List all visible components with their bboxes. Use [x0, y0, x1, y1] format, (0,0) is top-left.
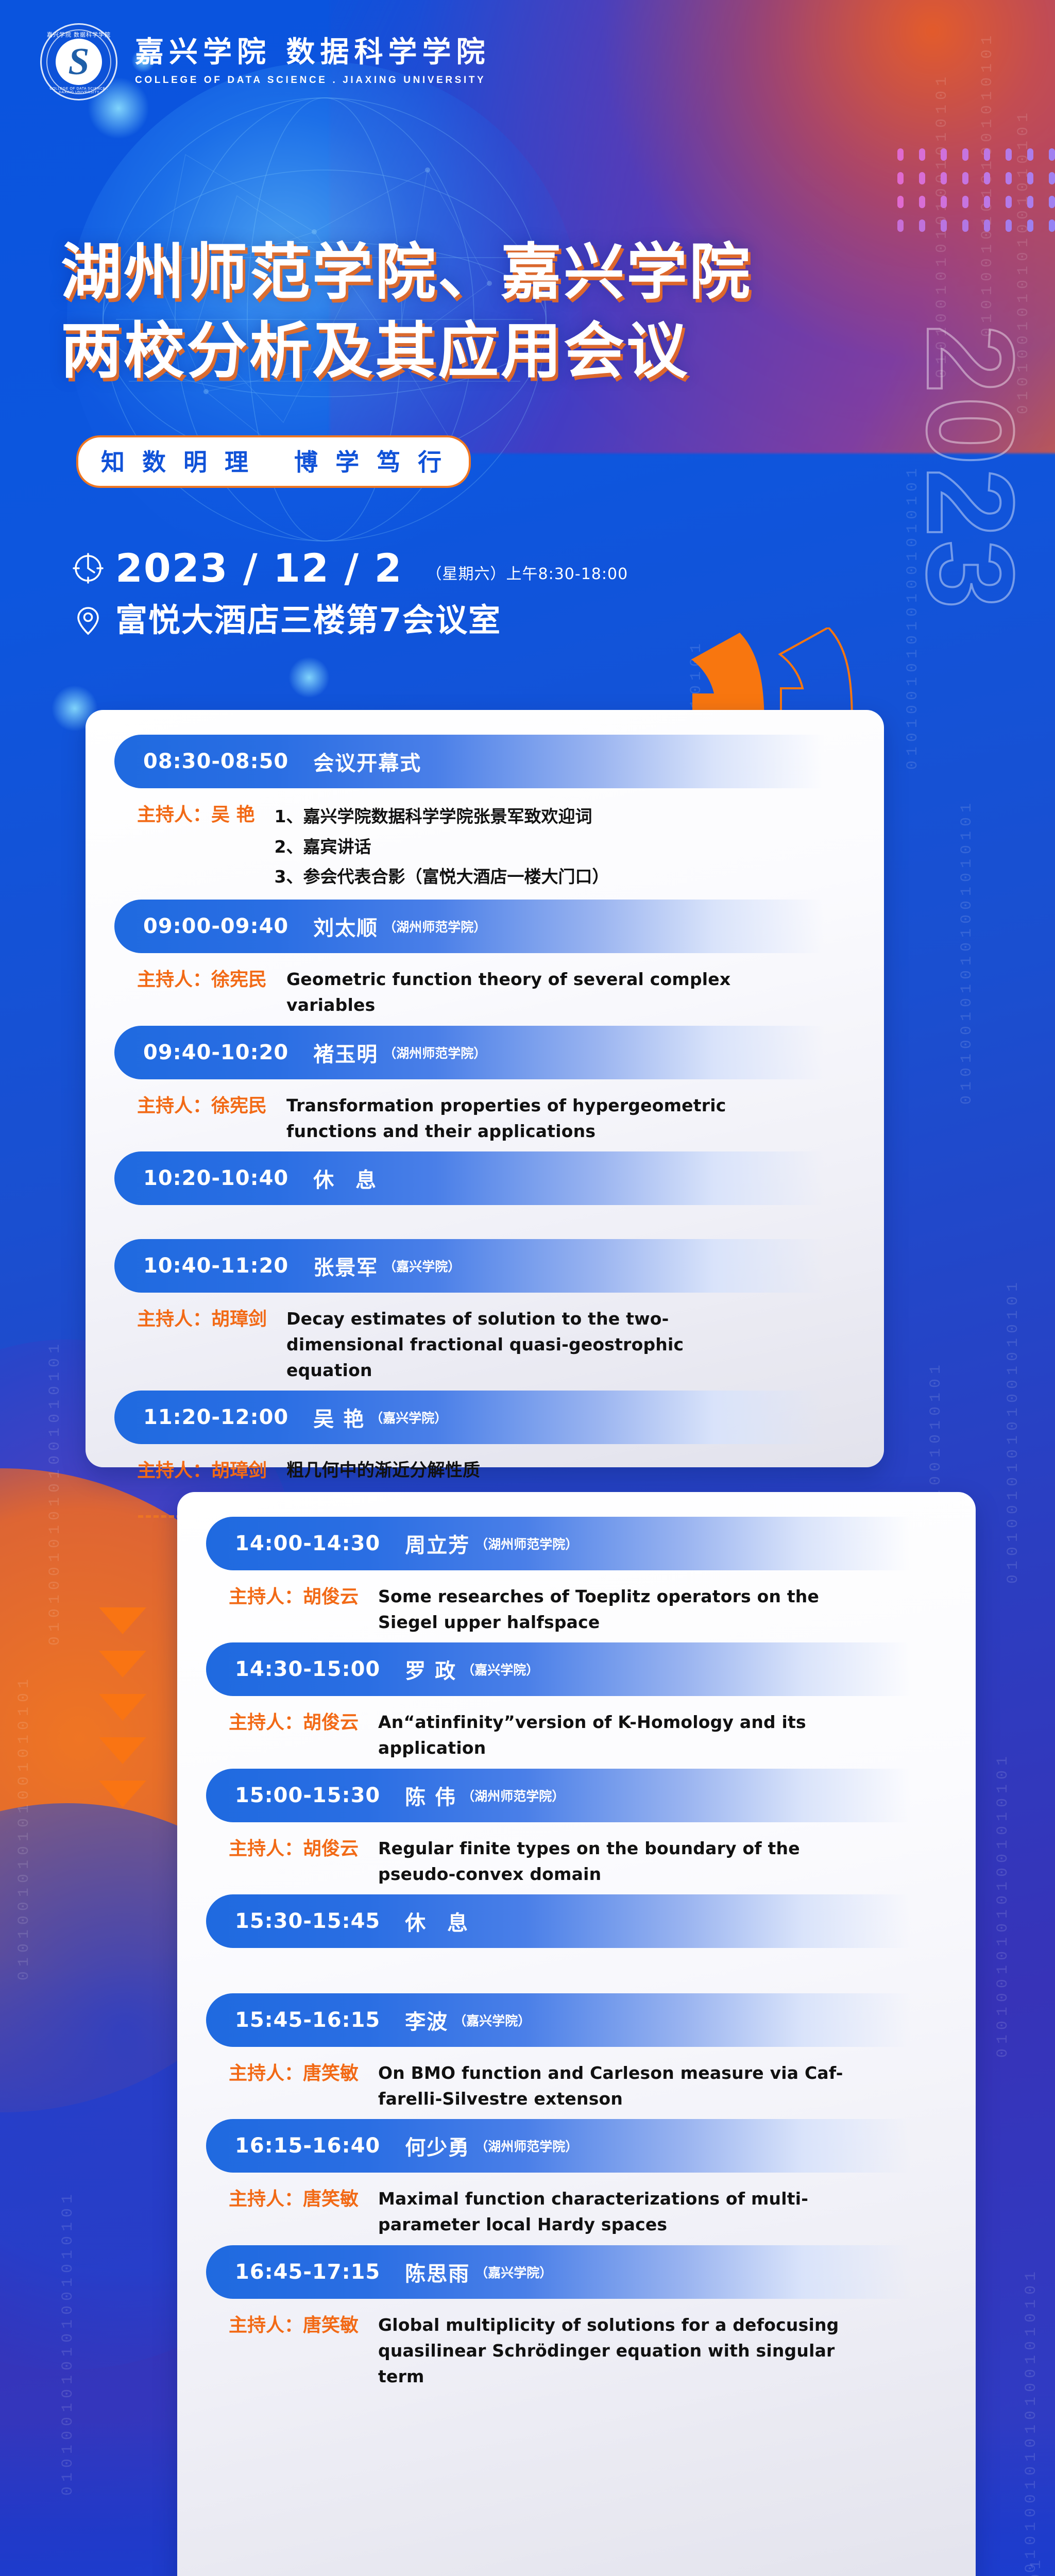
clock-icon	[72, 552, 104, 584]
session-time: 15:30-15:45	[235, 1909, 380, 1933]
session-affiliation: （嘉兴学院）	[383, 1257, 461, 1275]
session-topic: Regular finite types on the boundary of …	[378, 1836, 847, 1887]
session-affiliation: （嘉兴学院）	[453, 2011, 531, 2029]
session-speaker: 褚玉明	[313, 1038, 378, 1067]
session-speaker: 吴 艳	[313, 1402, 365, 1432]
chevron-down-icon	[99, 1737, 146, 1764]
session-header-bar: 09:00-09:40 刘太顺 （湖州师范学院）	[114, 900, 846, 953]
afternoon-session-list: 14:00-14:30 周立芳 （湖州师范学院） 主持人：胡俊云 Some re…	[177, 1492, 976, 2407]
session-row[interactable]: 08:30-08:50 会议开幕式 主持人：吴 艳 1、嘉兴学院数据科学学院张景…	[114, 735, 861, 895]
session-affiliation: （湖州师范学院）	[383, 1043, 486, 1062]
university-logo: 嘉兴学院 数据科学学院 COLLEGE OF DATA SCIENCE . JI…	[40, 23, 117, 100]
event-date-row: 2023 / 12 / 2 （星期六）上午8:30-18:00	[72, 549, 628, 588]
event-place-row: 富悦大酒店三楼第7会议室	[72, 604, 628, 636]
binary-decor: 0101001010101001010101	[15, 1674, 33, 1980]
chevron-down-icon	[99, 1651, 146, 1677]
session-affiliation: （嘉兴学院）	[370, 1408, 447, 1427]
session-header-bar: 15:30-15:45 休 息	[206, 1894, 932, 1948]
brand-block: 嘉兴学院 数据科学学院 COLLEGE OF DATA SCIENCE . JI…	[135, 38, 490, 86]
session-affiliation: （湖州师范学院）	[475, 2137, 578, 2155]
topic-list-item: 1、嘉兴学院数据科学学院张景军致欢迎词	[275, 802, 609, 832]
session-speaker: 刘太顺	[313, 911, 378, 941]
session-header-bar: 15:00-15:30 陈 伟 （湖州师范学院）	[206, 1769, 932, 1822]
logo-letter: S	[68, 43, 89, 81]
session-time: 10:20-10:40	[143, 1166, 288, 1190]
event-date: 2023 / 12 / 2	[115, 549, 403, 588]
session-row[interactable]: 09:40-10:20 褚玉明 （湖州师范学院） 主持人：徐宪民 Transfo…	[114, 1026, 861, 1147]
binary-decor: 0101001010101001010101	[46, 1340, 64, 1646]
session-affiliation: （嘉兴学院）	[475, 2263, 552, 2281]
scroll-arrows-decor	[99, 1607, 146, 1807]
session-title: 休 息	[405, 1906, 475, 1936]
glow-dot	[288, 657, 330, 698]
event-place: 富悦大酒店三楼第7会议室	[115, 604, 501, 636]
session-time: 16:45-17:15	[235, 2260, 380, 2284]
session-topic: Decay estimates of solution to the two-d…	[286, 1306, 755, 1383]
session-time: 14:00-14:30	[235, 1532, 380, 1555]
binary-decor: 0101001010101001010101	[26, 2571, 43, 2576]
session-body: 主持人：徐宪民 Transformation properties of hyp…	[114, 1079, 861, 1147]
session-topic: An“atinfinity”version of K-Homology and …	[378, 1709, 847, 1761]
session-affiliation: （嘉兴学院）	[462, 1660, 539, 1679]
session-body: 主持人：胡俊云 Regular finite types on the boun…	[206, 1822, 953, 1890]
session-time: 16:15-16:40	[235, 2134, 380, 2158]
title-line-1: 湖州师范学院、嘉兴学院	[61, 233, 782, 312]
session-time: 09:40-10:20	[143, 1041, 288, 1064]
session-body: 主持人：唐笑敏 Global multiplicity of solutions…	[206, 2299, 953, 2393]
topic-list-item: 2、嘉宾讲话	[275, 832, 609, 862]
session-topic: Maximal function characterizations of mu…	[378, 2186, 847, 2238]
session-host: 主持人：徐宪民	[137, 967, 267, 993]
session-header-bar: 09:40-10:20 褚玉明 （湖州师范学院）	[114, 1026, 846, 1079]
session-header-bar: 10:20-10:40 休 息	[114, 1151, 846, 1205]
poster-header: 嘉兴学院 数据科学学院 COLLEGE OF DATA SCIENCE . JI…	[0, 0, 1055, 124]
slogan-badge: 知 数 明 理 博 学 笃 行	[76, 435, 471, 488]
poster-title: 湖州师范学院、嘉兴学院 两校分析及其应用会议	[61, 233, 782, 391]
session-row[interactable]: 15:00-15:30 陈 伟 （湖州师范学院） 主持人：胡俊云 Regular…	[206, 1769, 953, 1890]
session-row[interactable]: 14:00-14:30 周立芳 （湖州师范学院） 主持人：胡俊云 Some re…	[206, 1517, 953, 1638]
logo-core: S	[56, 39, 102, 85]
dot-grid-decor	[897, 148, 1055, 232]
session-topic: Some researches of Toeplitz operators on…	[378, 1584, 847, 1635]
session-header-bar: 16:15-16:40 何少勇 （湖州师范学院）	[206, 2119, 932, 2173]
session-host: 主持人：胡俊云	[229, 1836, 359, 1862]
session-row[interactable]: 14:30-15:00 罗 政 （嘉兴学院） 主持人：胡俊云 An“atinfi…	[206, 1642, 953, 1764]
session-host: 主持人：吴 艳	[137, 802, 255, 828]
session-row-break[interactable]: 15:30-15:45 休 息	[206, 1894, 953, 1989]
session-body: 主持人：胡俊云 An“atinfinity”version of K-Homol…	[206, 1696, 953, 1764]
session-speaker: 罗 政	[405, 1654, 456, 1684]
morning-session-list: 08:30-08:50 会议开幕式 主持人：吴 艳 1、嘉兴学院数据科学学院张景…	[86, 710, 884, 1528]
session-speaker: 周立芳	[405, 1529, 470, 1558]
session-body: 主持人：胡璋剑 Decay estimates of solution to t…	[114, 1293, 861, 1386]
session-header-bar: 14:30-15:00 罗 政 （嘉兴学院）	[206, 1642, 932, 1696]
morning-schedule-card: 08:30-08:50 会议开幕式 主持人：吴 艳 1、嘉兴学院数据科学学院张景…	[86, 710, 884, 1467]
topic-list-item: 3、参会代表合影（富悦大酒店一楼大门口）	[275, 862, 609, 892]
session-row[interactable]: 16:15-16:40 何少勇 （湖州师范学院） 主持人：唐笑敏 Maximal…	[206, 2119, 953, 2241]
session-host: 主持人：胡俊云	[229, 1709, 359, 1736]
session-row[interactable]: 10:40-11:20 张景军 （嘉兴学院） 主持人：胡璋剑 Decay est…	[114, 1239, 861, 1386]
session-body: 主持人：唐笑敏 Maximal function characterizatio…	[206, 2173, 953, 2241]
session-topic: 粗几何中的渐近分解性质	[286, 1458, 480, 1484]
brand-name-cn: 嘉兴学院 数据科学学院	[135, 38, 490, 68]
session-speaker: 陈 伟	[405, 1781, 456, 1810]
session-affiliation: （湖州师范学院）	[383, 917, 486, 936]
session-body: 主持人：唐笑敏 On BMO function and Carleson mea…	[206, 2047, 953, 2115]
session-body: 主持人：胡俊云 Some researches of Toeplitz oper…	[206, 1570, 953, 1638]
session-row[interactable]: 09:00-09:40 刘太顺 （湖州师范学院） 主持人：徐宪民 Geometr…	[114, 900, 861, 1021]
event-date-suffix: （星期六）上午8:30-18:00	[427, 561, 628, 588]
slogan-text: 知 数 明 理 博 学 笃 行	[101, 448, 446, 476]
session-time: 10:40-11:20	[143, 1254, 288, 1278]
session-time: 11:20-12:00	[143, 1405, 288, 1429]
session-topic: Global multiplicity of solutions for a d…	[378, 2312, 847, 2389]
session-row-break[interactable]: 10:20-10:40 休 息	[114, 1151, 861, 1235]
session-speaker: 陈思雨	[405, 2257, 470, 2287]
session-row[interactable]: 11:20-12:00 吴 艳 （嘉兴学院） 主持人：胡璋剑 粗几何中的渐近分解…	[114, 1391, 861, 1492]
session-host: 主持人：唐笑敏	[229, 2186, 359, 2213]
session-row[interactable]: 15:45-16:15 李波 （嘉兴学院） 主持人：唐笑敏 On BMO fun…	[206, 1993, 953, 2115]
afternoon-schedule-card: 14:00-14:30 周立芳 （湖州师范学院） 主持人：胡俊云 Some re…	[177, 1492, 976, 2576]
session-time: 15:45-16:15	[235, 2008, 380, 2032]
binary-decor: 0101001010101001010101	[994, 1752, 1012, 2058]
session-time: 09:00-09:40	[143, 914, 288, 938]
session-header-bar: 10:40-11:20 张景军 （嘉兴学院）	[114, 1239, 846, 1293]
session-time: 14:30-15:00	[235, 1657, 380, 1681]
binary-decor: 0101001010101001010101	[958, 799, 976, 1105]
session-topic: On BMO function and Carleson measure via…	[378, 2060, 847, 2112]
binary-decor: 0101001010101001010101	[1023, 2267, 1040, 2573]
session-speaker: 何少勇	[405, 2131, 470, 2161]
session-body	[114, 1205, 861, 1235]
chevron-down-icon	[99, 1694, 146, 1721]
chevron-down-icon	[99, 1607, 146, 1634]
session-time: 08:30-08:50	[143, 750, 288, 773]
session-body: 主持人：徐宪民 Geometric function theory of sev…	[114, 953, 861, 1021]
chevron-down-icon	[99, 1781, 146, 1807]
session-host: 主持人：徐宪民	[137, 1093, 267, 1120]
session-host: 主持人：胡俊云	[229, 1584, 359, 1611]
session-header-bar: 14:00-14:30 周立芳 （湖州师范学院）	[206, 1517, 932, 1570]
location-pin-icon	[72, 604, 104, 636]
session-host: 主持人：唐笑敏	[229, 2312, 359, 2339]
logo-badge-bottom-text: COLLEGE OF DATA SCIENCE . JIAXING UNIVER…	[42, 87, 116, 94]
session-speaker: 李波	[405, 2005, 448, 2035]
event-meta: 2023 / 12 / 2 （星期六）上午8:30-18:00 富悦大酒店三楼第…	[72, 549, 628, 636]
session-affiliation: （湖州师范学院）	[475, 1534, 578, 1553]
logo-badge-top-text: 嘉兴学院 数据科学学院	[42, 30, 116, 39]
session-header-bar: 15:45-16:15 李波 （嘉兴学院）	[206, 1993, 932, 2047]
session-topic: Transformation properties of hypergeomet…	[286, 1093, 755, 1144]
session-host: 主持人：胡璋剑	[137, 1458, 267, 1484]
session-speaker: 张景军	[313, 1251, 378, 1281]
year-outline-decor: 2023	[899, 325, 1042, 612]
binary-decor: 0101001010101001010101	[1005, 1278, 1022, 1584]
binary-decor: 0101001010101001010101	[59, 2190, 77, 2496]
title-line-2: 两校分析及其应用会议	[61, 312, 782, 391]
session-topic: Geometric function theory of several com…	[286, 967, 755, 1018]
session-body	[206, 1948, 953, 1989]
session-time: 15:00-15:30	[235, 1784, 380, 1807]
session-title: 休 息	[313, 1163, 383, 1193]
session-affiliation: （湖州师范学院）	[462, 1786, 565, 1805]
session-host: 主持人：唐笑敏	[229, 2060, 359, 2087]
session-topic-list: 1、嘉兴学院数据科学学院张景军致欢迎词 2、嘉宾讲话 3、参会代表合影（富悦大酒…	[275, 802, 609, 892]
session-body: 主持人：胡璋剑 粗几何中的渐近分解性质	[114, 1444, 861, 1492]
session-host: 主持人：胡璋剑	[137, 1306, 267, 1333]
session-body: 主持人：吴 艳 1、嘉兴学院数据科学学院张景军致欢迎词 2、嘉宾讲话 3、参会代…	[114, 788, 861, 895]
session-header-bar: 16:45-17:15 陈思雨 （嘉兴学院）	[206, 2245, 932, 2299]
session-header-bar: 11:20-12:00 吴 艳 （嘉兴学院）	[114, 1391, 846, 1444]
session-title: 会议开幕式	[313, 747, 421, 776]
session-header-bar: 08:30-08:50 会议开幕式	[114, 735, 846, 788]
session-row[interactable]: 16:45-17:15 陈思雨 （嘉兴学院） 主持人：唐笑敏 Global mu…	[206, 2245, 953, 2393]
binary-decor: 0101001010101001010101	[1028, 2555, 1045, 2576]
brand-name-en: COLLEGE OF DATA SCIENCE . JIAXING UNIVER…	[135, 75, 490, 86]
